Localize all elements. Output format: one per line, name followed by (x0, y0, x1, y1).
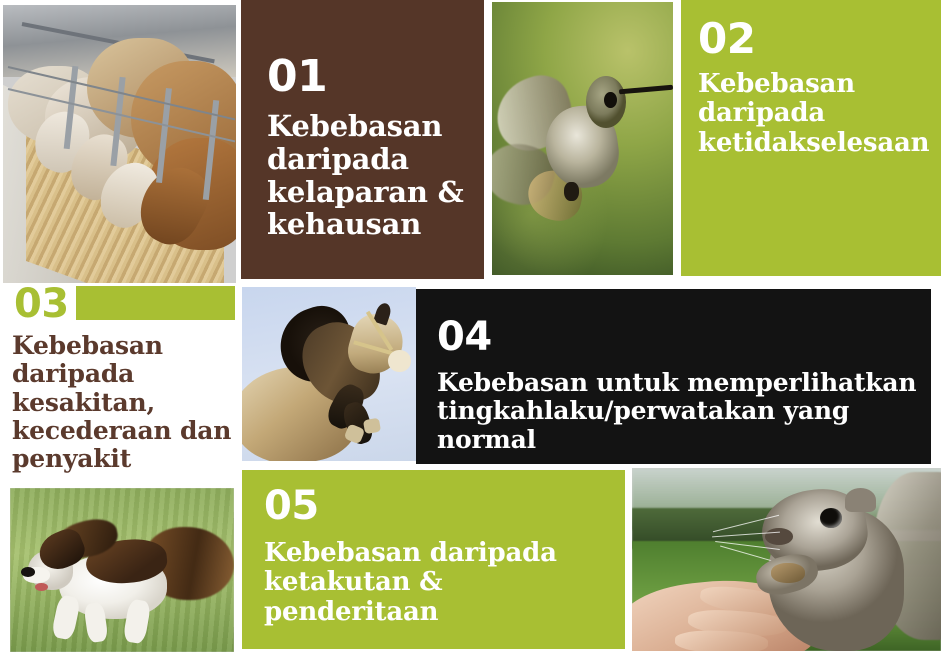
panel-04-headline: Kebebasan untuk memperlihatkan tingkahla… (437, 369, 931, 454)
panel-02-headline: Kebebasan daripada ketidakselesaan (698, 70, 941, 158)
photo-hummingbird (492, 2, 673, 275)
photo-cattle (3, 5, 236, 283)
photo-squirrel (632, 468, 941, 651)
panel-03-green-bar (76, 286, 235, 320)
panel-freedom-02: 02 Kebebasan daripada ketidakselesaan (681, 0, 941, 276)
panel-04-number: 04 (437, 317, 931, 357)
panel-05-number: 05 (264, 486, 625, 526)
panel-05-headline: Kebebasan daripada ketakutan & penderita… (264, 539, 625, 627)
photo-horse (242, 287, 416, 461)
panel-01-number: 01 (267, 55, 484, 99)
panel-freedom-05: 05 Kebebasan daripada ketakutan & pender… (242, 470, 625, 649)
panel-01-headline: Kebebasan daripada kelaparan & kehausan (267, 110, 484, 241)
panel-03-headline: Kebebasan daripada kesakitan, kecederaan… (12, 332, 240, 473)
panel-freedom-01: 01 Kebebasan daripada kelaparan & kehaus… (241, 0, 484, 279)
panel-freedom-04: 04 Kebebasan untuk memperlihatkan tingka… (416, 289, 931, 464)
poster-canvas: 01 Kebebasan daripada kelaparan & kehaus… (0, 0, 941, 659)
panel-03-number: 03 (14, 284, 69, 324)
panel-freedom-03: 03 Kebebasan daripada kesakitan, keceder… (0, 283, 240, 483)
panel-02-number: 02 (698, 18, 941, 60)
photo-dog (10, 488, 234, 652)
panel-03-number-row: 03 (0, 283, 240, 323)
